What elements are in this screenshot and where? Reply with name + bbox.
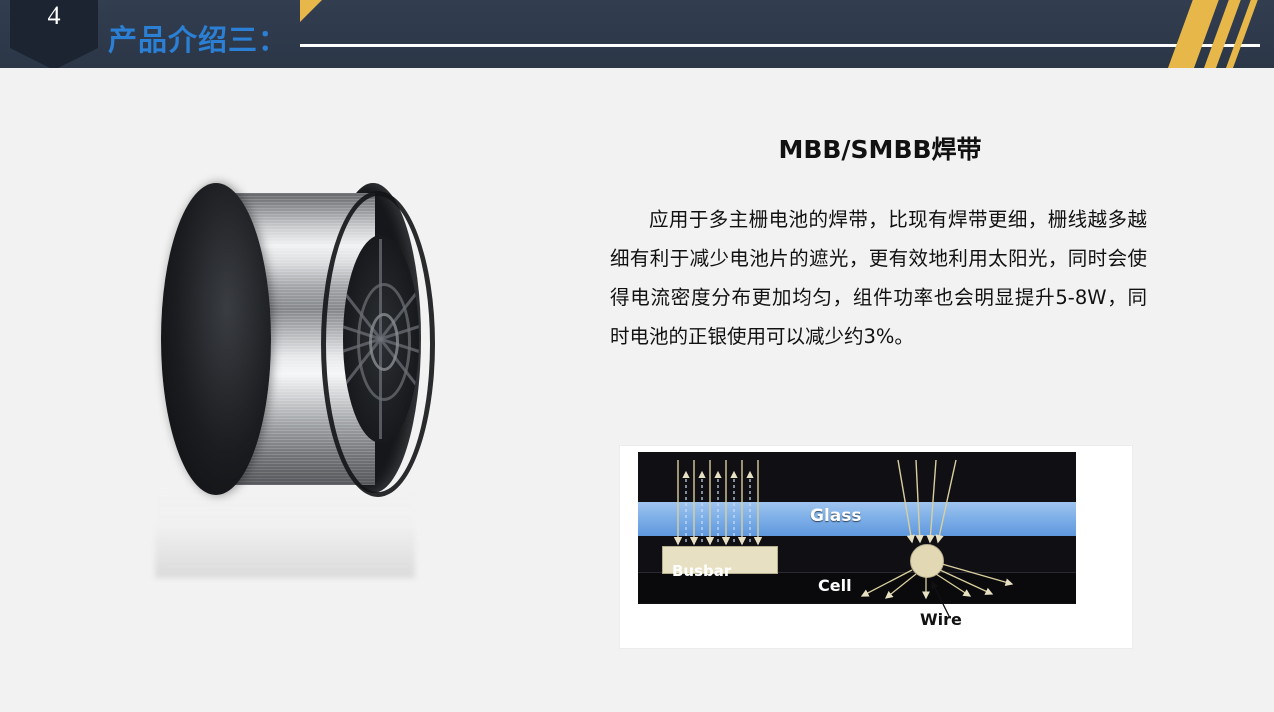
product-description: 应用于多主栅电池的焊带，比现有焊带更细，栅线越多越细有利于减少电池片的遮光，更有… [610, 200, 1147, 356]
spool-hub [343, 235, 419, 443]
title-underline-rule [300, 44, 1260, 47]
product-title: MBB/SMBB焊带 [700, 130, 1060, 166]
gold-corner-accent [300, 0, 322, 22]
section-number-badge-point [10, 48, 98, 68]
section-number: 4 [10, 0, 98, 48]
slide-header: 4 产品介绍三： [0, 0, 1274, 68]
wire-label: Wire [920, 610, 962, 629]
wire-spool-illustration [145, 183, 465, 503]
slide-content: MBB/SMBB焊带 应用于多主栅电池的焊带，比现有焊带更细，栅线越多越细有利于… [0, 68, 1274, 712]
glass-label: Glass [810, 506, 862, 526]
spool-hub-inner-ring [369, 313, 399, 371]
spool-front-flange [161, 183, 271, 495]
light-capture-diagram: Glass Cell Busbar Wire [620, 446, 1132, 648]
page-title: 产品介绍三： [108, 17, 288, 59]
product-photo [95, 168, 515, 638]
cell-label: Cell [818, 576, 852, 595]
busbar-label: Busbar [672, 562, 731, 580]
photo-reflection [155, 488, 415, 578]
diagram-arrows [620, 446, 1132, 648]
